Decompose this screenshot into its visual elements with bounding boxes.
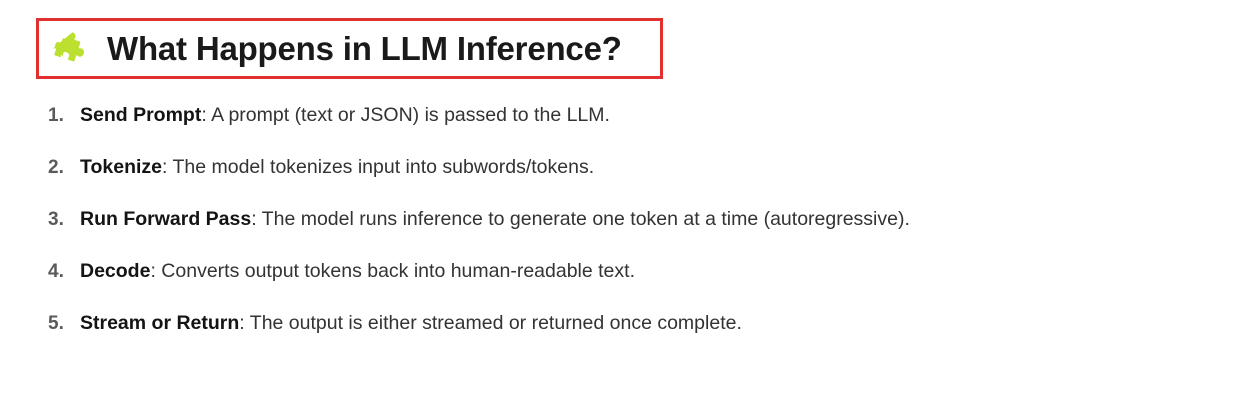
title-highlight-box: What Happens in LLM Inference?: [36, 18, 663, 79]
list-item-term: Decode: [80, 260, 150, 282]
list-item-description: Converts output tokens back into human-r…: [161, 260, 635, 282]
list-item-separator: :: [162, 156, 172, 178]
list-item-number: 3.: [44, 209, 80, 231]
list-item-description: The model runs inference to generate one…: [262, 208, 910, 230]
list-item-separator: :: [251, 208, 261, 230]
list-item-number: 2.: [44, 157, 80, 179]
list-item-term: Stream or Return: [80, 312, 239, 334]
list-item-number: 5.: [44, 313, 80, 335]
list-item-text: Decode: Converts output tokens back into…: [80, 259, 635, 283]
steps-list: 1. Send Prompt: A prompt (text or JSON) …: [44, 103, 1224, 363]
list-item-term: Run Forward Pass: [80, 208, 251, 230]
list-item-text: Send Prompt: A prompt (text or JSON) is …: [80, 103, 610, 127]
list-item-term: Tokenize: [80, 156, 162, 178]
list-item: 3. Run Forward Pass: The model runs infe…: [44, 207, 1224, 259]
list-item-description: The output is either streamed or returne…: [250, 312, 742, 334]
list-item: 1. Send Prompt: A prompt (text or JSON) …: [44, 103, 1224, 155]
list-item-separator: :: [239, 312, 249, 334]
list-item: 2. Tokenize: The model tokenizes input i…: [44, 155, 1224, 207]
list-item-text: Tokenize: The model tokenizes input into…: [80, 155, 594, 179]
list-item-separator: :: [201, 104, 211, 126]
list-item-description: A prompt (text or JSON) is passed to the…: [211, 104, 610, 126]
list-item-number: 4.: [44, 261, 80, 283]
list-item-text: Run Forward Pass: The model runs inferen…: [80, 207, 910, 231]
slide-root: What Happens in LLM Inference? 1. Send P…: [0, 0, 1244, 401]
page-title: What Happens in LLM Inference?: [107, 32, 622, 65]
list-item-term: Send Prompt: [80, 104, 201, 126]
list-item: 4. Decode: Converts output tokens back i…: [44, 259, 1224, 311]
list-item-text: Stream or Return: The output is either s…: [80, 311, 742, 335]
list-item: 5. Stream or Return: The output is eithe…: [44, 311, 1224, 363]
list-item-separator: :: [150, 260, 161, 282]
puzzle-piece-icon: [53, 29, 91, 67]
list-item-description: The model tokenizes input into subwords/…: [172, 156, 594, 178]
list-item-number: 1.: [44, 105, 80, 127]
